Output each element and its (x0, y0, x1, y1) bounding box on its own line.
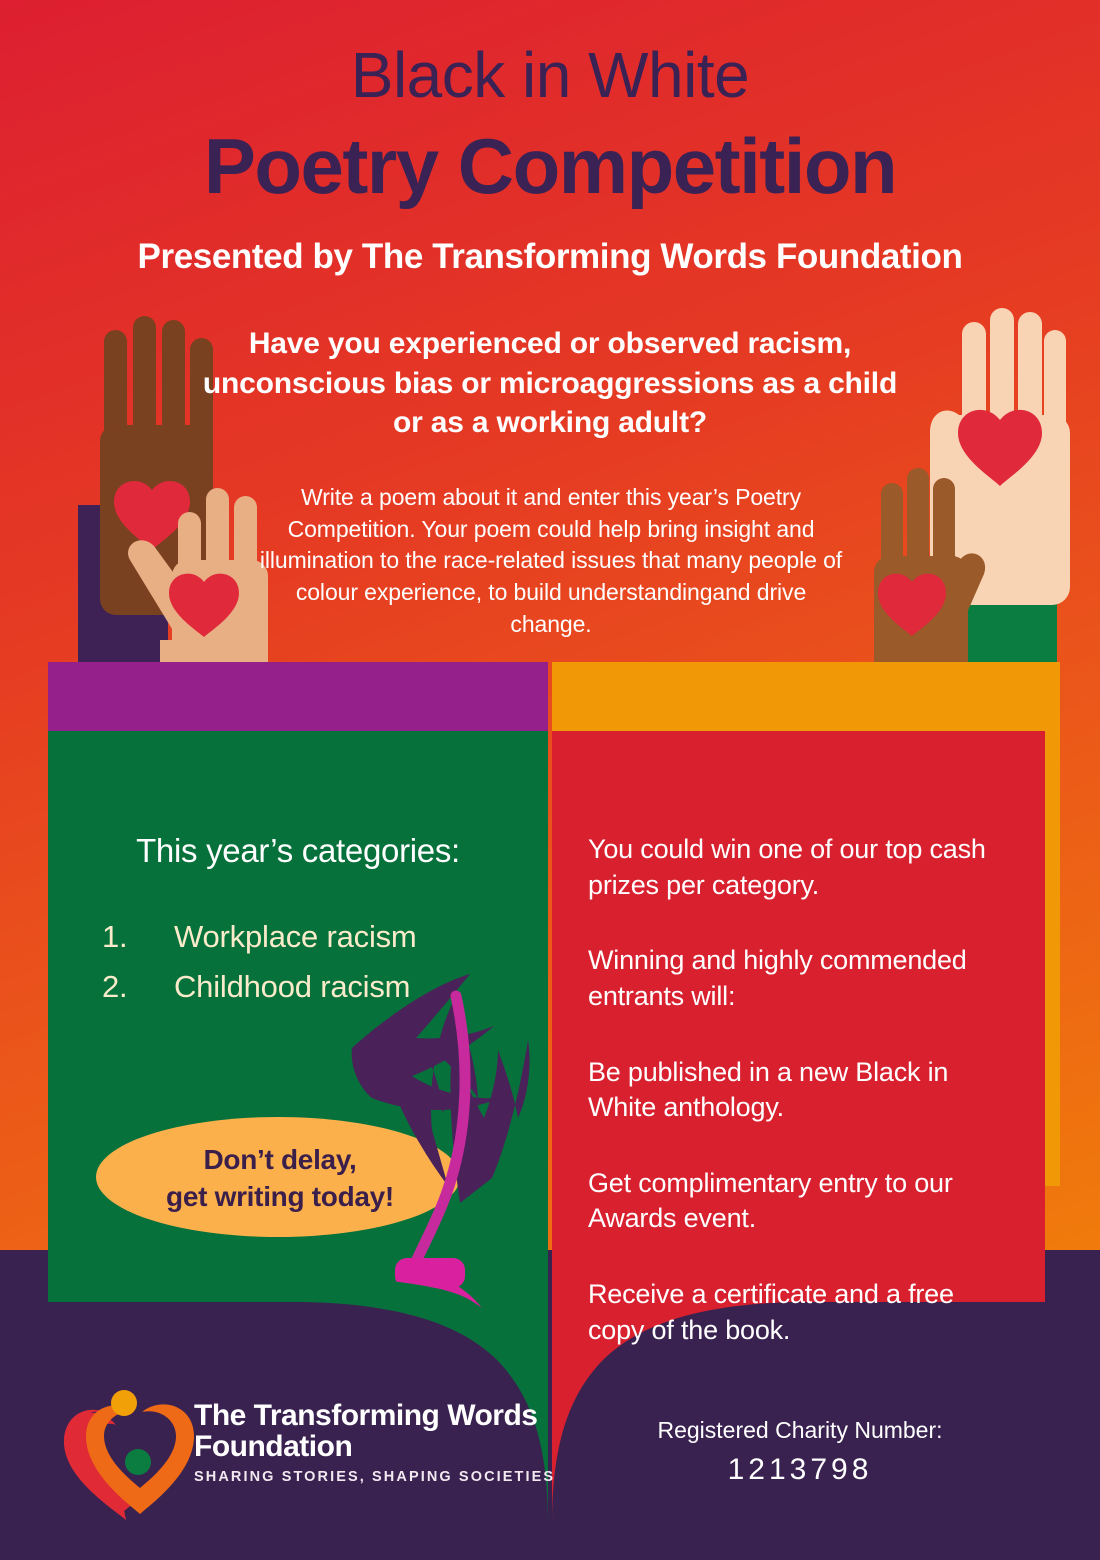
poster-title-line2: Poetry Competition (0, 126, 1100, 207)
logo-name-line-2: Foundation (194, 1432, 555, 1463)
logo-name-line-1: The Transforming Words (194, 1401, 555, 1432)
cta-line-2: get writing today! (110, 1179, 450, 1216)
categories-heading: This year’s categories: (78, 832, 518, 870)
list-item-label: Childhood racism (174, 962, 410, 1012)
charity-info: Registered Charity Number: 1213798 (600, 1415, 1000, 1491)
prize-paragraph: Receive a certificate and a free copy of… (588, 1277, 1008, 1348)
foundation-logo: The Transforming Words Foundation SHARIN… (70, 1395, 555, 1491)
poster-title-line1: Black in White (0, 42, 1100, 109)
list-item-label: Workplace racism (174, 912, 417, 962)
prizes-list: You could win one of our top cash prizes… (588, 832, 1008, 1378)
foundation-logo-text: The Transforming Words Foundation SHARIN… (194, 1401, 555, 1485)
foundation-logo-tagline: SHARING STORIES, SHAPING SOCIETIES (194, 1469, 555, 1485)
poster-subtitle: Presented by The Transforming Words Foun… (0, 238, 1100, 277)
prize-paragraph: You could win one of our top cash prizes… (588, 832, 1008, 903)
prize-paragraph: Be published in a new Black in White ant… (588, 1055, 1008, 1126)
cta-callout: Don’t delay, get writing today! (110, 1142, 450, 1216)
charity-label: Registered Charity Number: (657, 1417, 942, 1443)
list-item-number: 1. (96, 912, 174, 962)
charity-number: 1213798 (600, 1450, 1000, 1491)
prize-paragraph: Winning and highly commended entrants wi… (588, 943, 1008, 1014)
list-item-number: 2. (96, 962, 174, 1012)
foundation-logo-name: The Transforming Words Foundation (194, 1401, 555, 1462)
cta-line-1: Don’t delay, (110, 1142, 450, 1179)
list-item: 1. Workplace racism (96, 912, 526, 962)
poster-question-text: Have you experienced or observed racism,… (200, 324, 900, 443)
poster-blurb-text: Write a poem about it and enter this yea… (256, 482, 846, 641)
poster-canvas: Black in White Poetry Competition Presen… (0, 0, 1100, 1560)
prize-paragraph: Get complimentary entry to our Awards ev… (588, 1166, 1008, 1237)
list-item: 2. Childhood racism (96, 962, 526, 1012)
categories-list: 1. Workplace racism 2. Childhood racism (96, 912, 526, 1012)
